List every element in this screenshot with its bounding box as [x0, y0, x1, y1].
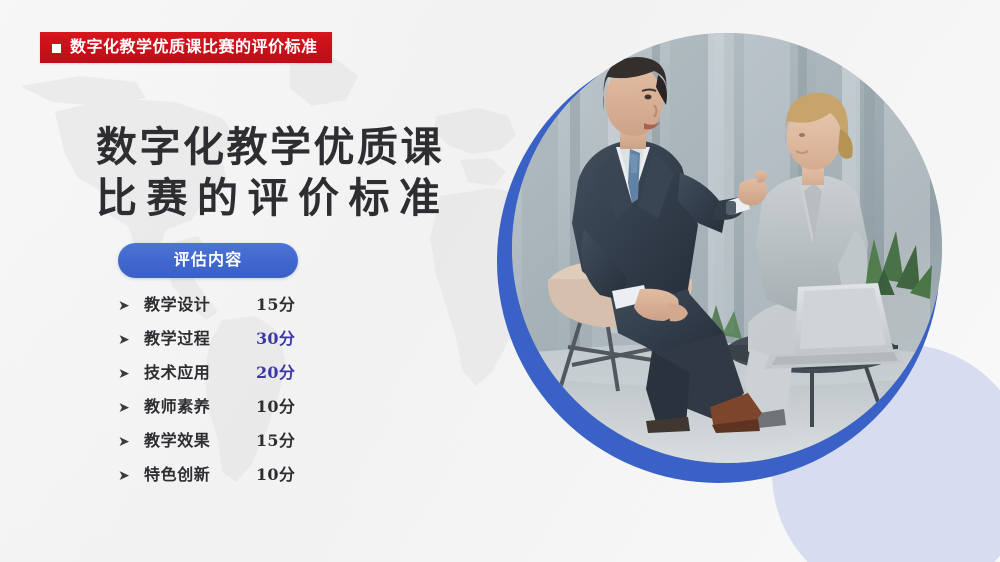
criteria-label: 教师素养 — [144, 393, 256, 417]
page-title-line-2: 比赛的评价标准 — [96, 173, 496, 224]
criteria-label: 教学过程 — [144, 325, 256, 349]
arrow-bullet-icon: ➤ — [118, 468, 144, 482]
square-bullet-icon — [52, 44, 61, 53]
arrow-bullet-icon: ➤ — [118, 366, 144, 380]
list-item[interactable]: ➤ 教学设计 15分 — [118, 291, 438, 325]
list-item[interactable]: ➤ 技术应用 20分 — [118, 359, 438, 393]
criteria-label: 技术应用 — [144, 359, 256, 383]
page-title: 数字化教学优质课 比赛的评价标准 — [96, 122, 496, 224]
arrow-bullet-icon: ➤ — [118, 332, 144, 346]
criteria-score: 10分 — [256, 393, 295, 417]
criteria-label: 教学设计 — [144, 291, 256, 315]
criteria-score: 15分 — [256, 427, 295, 451]
graphics-group — [470, 0, 1000, 562]
list-item[interactable]: ➤ 特色创新 10分 — [118, 461, 438, 495]
criteria-label: 教学效果 — [144, 427, 256, 451]
header-banner: 数字化教学优质课比赛的评价标准 — [40, 32, 332, 63]
slide-canvas: 数字化教学优质课比赛的评价标准 数字化教学优质课 比赛的评价标准 评估内容 ➤ … — [0, 0, 1000, 562]
criteria-score: 10分 — [256, 461, 295, 485]
arrow-bullet-icon: ➤ — [118, 298, 144, 312]
arrow-bullet-icon: ➤ — [118, 434, 144, 448]
section-pill-evaluation-content[interactable]: 评估内容 — [118, 243, 298, 278]
arrow-bullet-icon: ➤ — [118, 400, 144, 414]
criteria-score: 15分 — [256, 291, 295, 315]
criteria-score: 20分 — [256, 359, 295, 383]
criteria-list: ➤ 教学设计 15分 ➤ 教学过程 30分 ➤ 技术应用 20分 ➤ 教师素养 … — [118, 291, 438, 495]
criteria-score: 30分 — [256, 325, 295, 349]
criteria-label: 特色创新 — [144, 461, 256, 485]
list-item[interactable]: ➤ 教师素养 10分 — [118, 393, 438, 427]
page-title-line-1: 数字化教学优质课 — [96, 122, 496, 173]
header-banner-text: 数字化教学优质课比赛的评价标准 — [70, 40, 318, 56]
business-meeting-photo — [512, 33, 942, 463]
list-item[interactable]: ➤ 教学过程 30分 — [118, 325, 438, 359]
section-pill-label: 评估内容 — [174, 253, 243, 269]
list-item[interactable]: ➤ 教学效果 15分 — [118, 427, 438, 461]
